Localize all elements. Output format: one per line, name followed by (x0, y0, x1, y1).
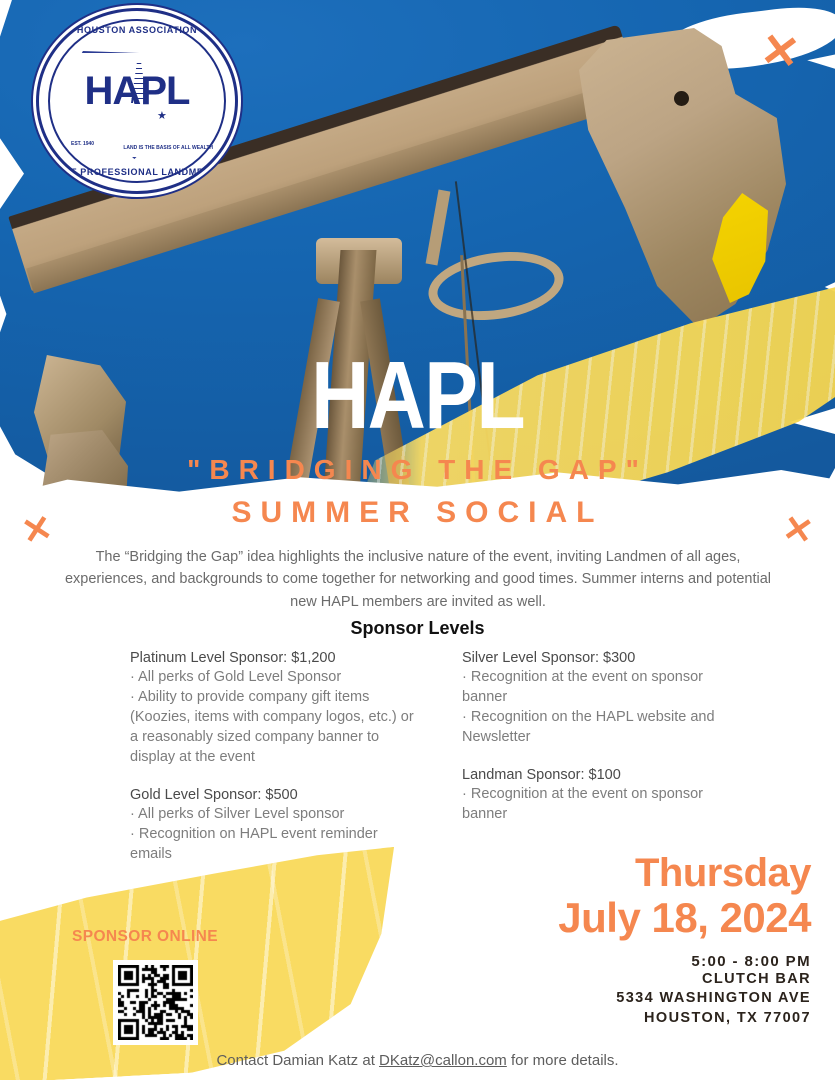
event-details-block: Thursday July 18, 2024 5:00 - 8:00 PM CL… (558, 852, 811, 1029)
sponsor-level-platinum: Platinum Level Sponsor: $1,200 · All per… (130, 650, 418, 767)
venue-name: CLUTCH BAR (558, 970, 811, 990)
sponsor-level-perk: · Recognition at the event on sponsor ba… (462, 667, 750, 707)
cross-mark-icon-mid-right: ✕ (780, 510, 816, 551)
event-day: Thursday (558, 852, 811, 895)
event-time: 5:00 - 8:00 PM (558, 953, 811, 970)
event-flyer: HOUSTON ASSOCIATION HAPL ★ EST. 1940 LAN… (0, 0, 835, 1080)
contact-prefix: Contact Damian Katz at (216, 1052, 379, 1069)
sponsor-level-perk: · All perks of Gold Level Sponsor (130, 667, 418, 687)
venue-city: HOUSTON, TX 77007 (558, 1009, 811, 1029)
yellow-brush-stroke-footer (0, 847, 405, 1080)
sponsor-level-title: Silver Level Sponsor: $300 (462, 650, 750, 666)
sponsor-level-title: Platinum Level Sponsor: $1,200 (130, 650, 418, 666)
pumpjack-bolt-icon (674, 91, 689, 106)
sponsor-levels-heading: Sponsor Levels (0, 618, 835, 639)
contact-line: Contact Damian Katz at DKatz@callon.com … (0, 1052, 835, 1069)
logo-acronym: HAPL (39, 69, 235, 114)
event-date: July 18, 2024 (558, 895, 811, 940)
star-icon: ★ (157, 109, 167, 122)
hapl-logo: HOUSTON ASSOCIATION HAPL ★ EST. 1940 LAN… (36, 8, 238, 194)
sponsor-level-title: Landman Sponsor: $100 (462, 767, 750, 783)
sponsor-level-perk: · Recognition on the HAPL website and Ne… (462, 707, 750, 747)
logo-motto-text: LAND IS THE BASIS OF ALL WEALTH (123, 145, 213, 151)
sponsor-level-perk: · All perks of Silver Level sponsor (130, 804, 418, 824)
qr-code-canvas[interactable] (118, 965, 193, 1040)
contact-email-link[interactable]: DKatz@callon.com (379, 1052, 507, 1069)
logo-established-text: EST. 1940 (71, 141, 94, 147)
sponsor-level-perk: · Recognition at the event on sponsor ba… (462, 784, 750, 824)
logo-arc-top-text: HOUSTON ASSOCIATION (39, 25, 235, 35)
sponsor-online-label: SPONSOR ONLINE (72, 928, 218, 946)
sponsor-level-silver: Silver Level Sponsor: $300 · Recognition… (462, 650, 750, 747)
sponsor-level-perk: · Ability to provide company gift items … (130, 687, 418, 767)
logo-arc-bottom-text: OF PROFESSIONAL LANDMEN (39, 167, 235, 177)
venue-street: 5334 WASHINGTON AVE (558, 989, 811, 1009)
cross-mark-icon-top-right: ✕ (758, 26, 803, 77)
pumpjack-ring (424, 244, 568, 328)
qr-code-icon[interactable] (113, 960, 198, 1045)
contact-suffix: for more details. (507, 1052, 619, 1069)
event-description: The “Bridging the Gap” idea highlights t… (62, 546, 774, 613)
pumpjack-bridle (426, 190, 451, 266)
sponsor-level-title: Gold Level Sponsor: $500 (130, 787, 418, 803)
sponsor-level-landman: Landman Sponsor: $100 · Recognition at t… (462, 767, 750, 824)
